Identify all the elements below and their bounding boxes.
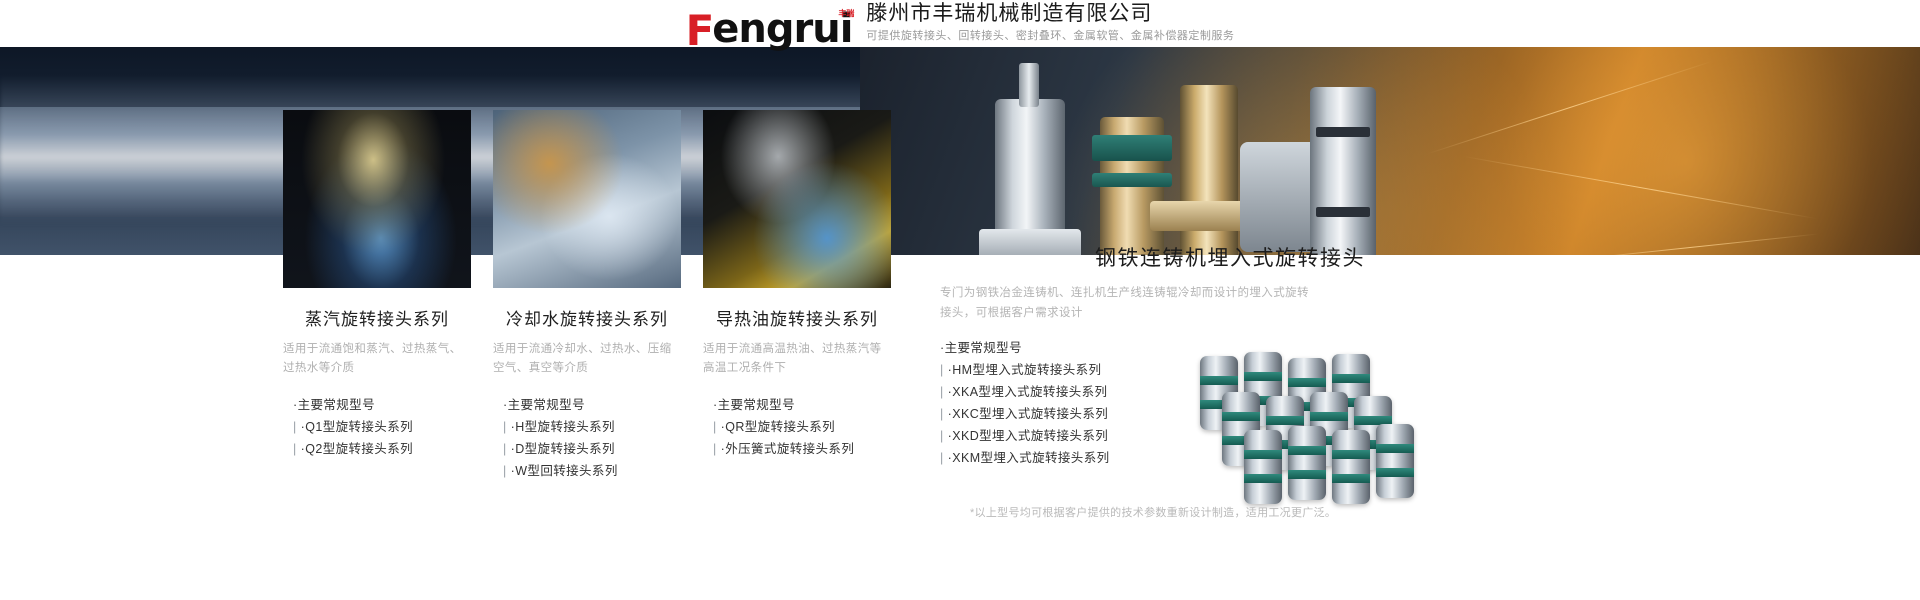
model-list-heading: ·主要常规型号 xyxy=(703,394,891,416)
company-name: 滕州市丰瑞机械制造有限公司 xyxy=(866,2,1234,26)
product-card-list: 蒸汽旋转接头系列 适用于流通饱和蒸汽、过热蒸气、过热水等介质 ·主要常规型号 |… xyxy=(283,110,891,482)
product-description: 适用于流通冷却水、过热水、压缩空气、真空等介质 xyxy=(493,340,681,378)
list-bar-icon: | xyxy=(940,363,944,377)
product-description: 适用于流通高温热油、过热蒸汽等高温工况条件下 xyxy=(703,340,891,378)
list-bar-icon: | xyxy=(940,385,944,399)
product-photo xyxy=(703,110,891,288)
product-description: 适用于流通饱和蒸汽、过热蒸气、过热水等介质 xyxy=(283,340,471,378)
list-bar-icon: | xyxy=(940,429,944,443)
embedded-joint-cluster-photo xyxy=(1190,352,1570,497)
product-card[interactable]: 蒸汽旋转接头系列 适用于流通饱和蒸汽、过热蒸气、过热水等介质 ·主要常规型号 |… xyxy=(283,110,471,482)
model-label: ·外压簧式旋转接头系列 xyxy=(721,442,855,456)
product-title: 导热油旋转接头系列 xyxy=(703,305,891,330)
list-bar-icon: | xyxy=(293,420,297,434)
list-bar-icon: | xyxy=(293,442,297,456)
model-label: ·H型旋转接头系列 xyxy=(511,420,615,434)
model-label: ·Q1型旋转接头系列 xyxy=(301,420,413,434)
model-label: ·QR型旋转接头系列 xyxy=(721,420,835,434)
list-bar-icon: | xyxy=(503,442,507,456)
model-label: ·XKM型埋入式旋转接头系列 xyxy=(948,451,1110,465)
product-photo xyxy=(493,110,681,288)
hero-banner: 蒸汽旋转接头系列 适用于流通饱和蒸汽、过热蒸气、过热水等介质 ·主要常规型号 |… xyxy=(0,47,1920,600)
model-list-item[interactable]: |·D型旋转接头系列 xyxy=(493,438,681,460)
logo-chinese-mark: 丰瑞 xyxy=(838,10,854,18)
model-list-item[interactable]: |·Q2型旋转接头系列 xyxy=(283,438,471,460)
feature-title: 钢铁连铸机埋入式旋转接头 xyxy=(940,242,1520,272)
model-label: ·HM型埋入式旋转接头系列 xyxy=(948,363,1102,377)
model-label: ·XKD型埋入式旋转接头系列 xyxy=(948,429,1108,443)
product-model-list: ·主要常规型号 |·H型旋转接头系列 |·D型旋转接头系列 |·W型回转接头系列 xyxy=(493,394,681,482)
product-card[interactable]: 导热油旋转接头系列 适用于流通高温热油、过热蒸汽等高温工况条件下 ·主要常规型号… xyxy=(703,110,891,482)
company-title-block: 滕州市丰瑞机械制造有限公司 可提供旋转接头、回转接头、密封叠环、金属软管、金属补… xyxy=(866,2,1234,46)
feature-description: 专门为钢铁冶金连铸机、连扎机生产线连铸辊冷却而设计的埋入式旋转接头，可根据客户需… xyxy=(940,283,1320,323)
feature-footnote: *以上型号均可根据客户提供的技术参数重新设计制造，适用工况更广泛。 xyxy=(970,504,1570,520)
logo-wordmark: engrui xyxy=(712,12,852,46)
model-label: ·XKA型埋入式旋转接头系列 xyxy=(948,385,1108,399)
joint-unit-icon xyxy=(1244,430,1282,504)
product-card[interactable]: 冷却水旋转接头系列 适用于流通冷却水、过热水、压缩空气、真空等介质 ·主要常规型… xyxy=(493,110,681,482)
product-title: 蒸汽旋转接头系列 xyxy=(283,305,471,330)
product-title: 冷却水旋转接头系列 xyxy=(493,305,681,330)
list-bar-icon: | xyxy=(940,407,944,421)
list-bar-icon: | xyxy=(713,442,717,456)
product-model-list: ·主要常规型号 |·Q1型旋转接头系列 |·Q2型旋转接头系列 xyxy=(283,394,471,460)
joint-unit-icon xyxy=(1332,430,1370,504)
list-bar-icon: | xyxy=(503,464,507,478)
list-bar-icon: | xyxy=(940,451,944,465)
joint-unit-icon xyxy=(1376,424,1414,498)
model-list-item[interactable]: |·QR型旋转接头系列 xyxy=(703,416,891,438)
spark-streak-icon xyxy=(1463,156,1818,219)
spark-streak-icon xyxy=(1427,61,1713,155)
model-list-item[interactable]: |·Q1型旋转接头系列 xyxy=(283,416,471,438)
model-label: ·Q2型旋转接头系列 xyxy=(301,442,413,456)
company-logo[interactable]: F engrui 丰瑞 xyxy=(686,12,853,46)
company-tagline: 可提供旋转接头、回转接头、密封叠环、金属软管、金属补偿器定制服务 xyxy=(866,28,1234,44)
model-list-item[interactable]: |·W型回转接头系列 xyxy=(493,460,681,482)
logo-letter-f: F xyxy=(686,14,713,48)
product-photo xyxy=(283,110,471,288)
model-list-item[interactable]: |·H型旋转接头系列 xyxy=(493,416,681,438)
list-bar-icon: | xyxy=(713,420,717,434)
model-list-heading: ·主要常规型号 xyxy=(283,394,471,416)
product-model-list: ·主要常规型号 |·QR型旋转接头系列 |·外压簧式旋转接头系列 xyxy=(703,394,891,460)
model-label: ·D型旋转接头系列 xyxy=(511,442,615,456)
model-label: ·XKC型埋入式旋转接头系列 xyxy=(948,407,1108,421)
model-list-item[interactable]: |·外压簧式旋转接头系列 xyxy=(703,438,891,460)
model-list-heading: ·主要常规型号 xyxy=(493,394,681,416)
feature-panel: 钢铁连铸机埋入式旋转接头 专门为钢铁冶金连铸机、连扎机生产线连铸辊冷却而设计的埋… xyxy=(940,242,1640,469)
list-bar-icon: | xyxy=(503,420,507,434)
site-header: F engrui 丰瑞 滕州市丰瑞机械制造有限公司 可提供旋转接头、回转接头、密… xyxy=(0,0,1920,47)
joint-unit-icon xyxy=(1288,426,1326,500)
model-label: ·W型回转接头系列 xyxy=(511,464,618,478)
brand-block: F engrui 丰瑞 滕州市丰瑞机械制造有限公司 可提供旋转接头、回转接头、密… xyxy=(686,2,1235,46)
